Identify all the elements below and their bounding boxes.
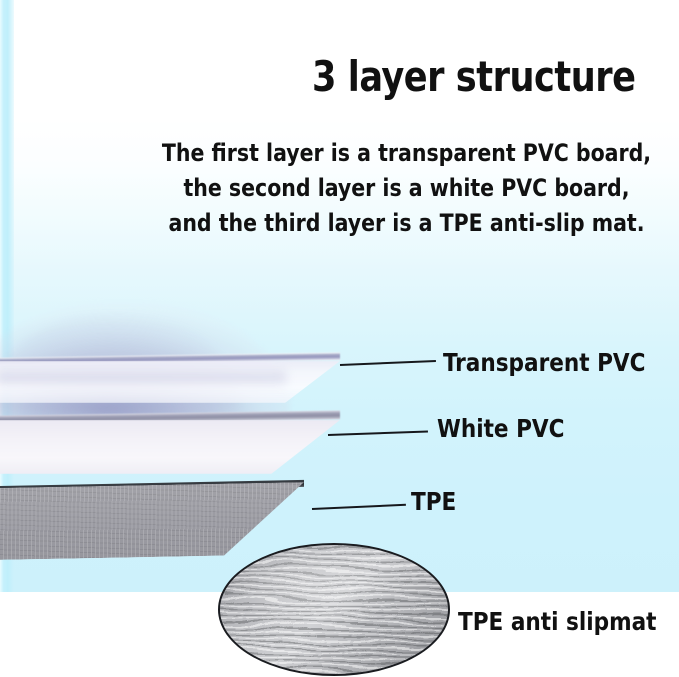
white-pvc-layer — [0, 420, 340, 474]
callout-tpe: TPE — [411, 487, 456, 516]
page-description: The first layer is a transparent PVC boa… — [153, 136, 659, 241]
tpe-swatch-sheen — [220, 545, 448, 674]
transparent-pvc-reflection — [0, 369, 286, 385]
page-title: 3 layer structure — [312, 52, 638, 101]
callout-tpe-anti-slipmat: TPE anti slipmat — [458, 607, 656, 636]
tpe-anti-slipmat-swatch — [218, 543, 450, 676]
callout-transparent-pvc: Transparent PVC — [443, 348, 645, 377]
description-line-1: The first layer is a transparent PVC boa… — [153, 136, 659, 171]
description-line-2: the second layer is a white PVC board, — [153, 171, 659, 206]
callout-white-pvc: White PVC — [437, 414, 564, 443]
description-line-3: and the third layer is a TPE anti-slip m… — [153, 206, 659, 241]
infographic-canvas: 3 layer structure The first layer is a t… — [0, 0, 679, 677]
